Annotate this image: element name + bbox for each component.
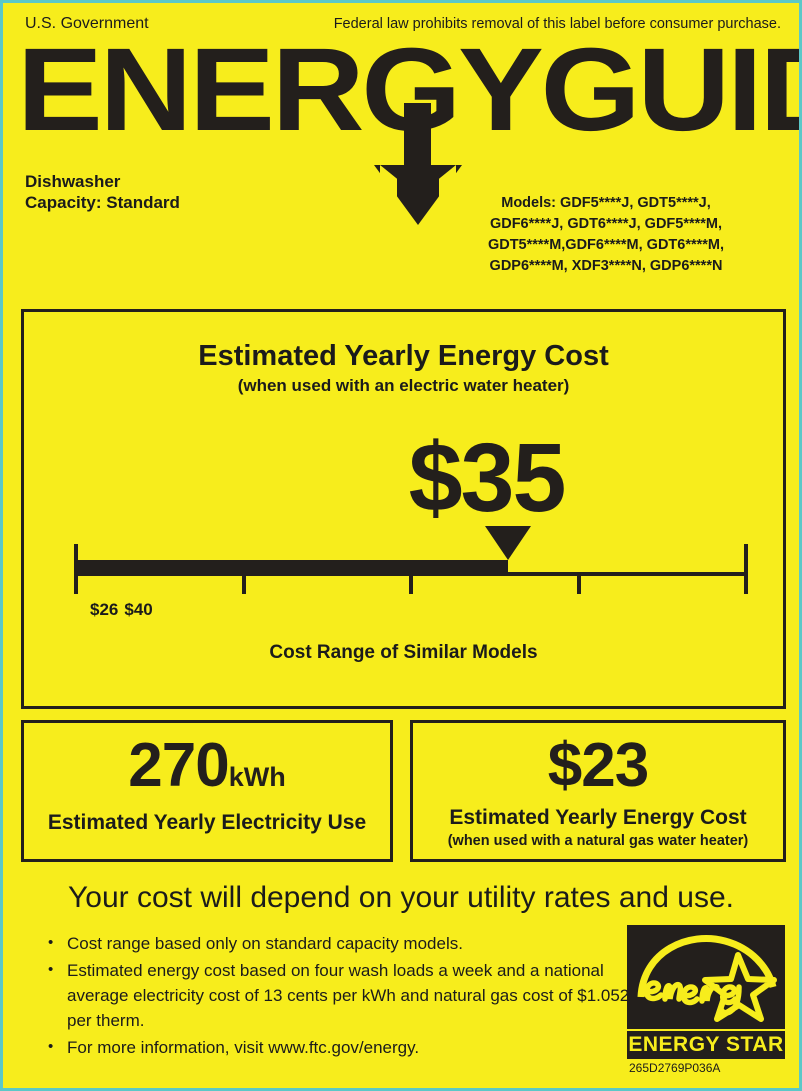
gas-cost-label: Estimated Yearly Energy Cost — [413, 806, 783, 830]
cost-range-scale: $26$40 — [76, 534, 746, 596]
footnote-item: Estimated energy cost based on four wash… — [67, 958, 652, 1033]
electricity-value: 270 — [128, 731, 228, 800]
footnote-item: Cost range based only on standard capaci… — [67, 931, 652, 956]
estimated-yearly-electricity-use-box: 270kWh Estimated Yearly Electricity Use — [21, 720, 393, 862]
scale-range-labels: $26$40 — [90, 600, 159, 620]
gas-cost-value: $23 — [413, 731, 783, 801]
agency-name: U.S. Government — [25, 15, 149, 33]
label-header: U.S. Government Federal law prohibits re… — [25, 15, 781, 37]
energy-star-emblem — [627, 925, 785, 1029]
scale-tick — [577, 572, 581, 594]
cost-disclaimer: Your cost will depend on your utility ra… — [3, 881, 799, 915]
legal-notice: Federal law prohibits removal of this la… — [334, 16, 781, 32]
gas-cost-sublabel: (when used with a natural gas water heat… — [413, 833, 783, 849]
range-high-label: $40 — [124, 600, 152, 619]
scale-tick-end — [744, 544, 748, 594]
footnotes-list: Cost range based only on standard capaci… — [43, 931, 652, 1062]
estimated-yearly-energy-cost-box: Estimated Yearly Energy Cost (when used … — [21, 309, 786, 709]
model-line: GDF6****J, GDT6****J, GDF5****M, — [441, 214, 771, 235]
primary-cost-value: $35 — [24, 428, 802, 528]
electricity-unit: kWh — [229, 762, 286, 792]
scale-tick — [409, 572, 413, 594]
electricity-label: Estimated Yearly Electricity Use — [24, 811, 390, 835]
range-low-label: $26 — [90, 600, 118, 619]
footnote-item: For more information, visit www.ftc.gov/… — [67, 1035, 652, 1060]
model-line: GDP6****M, XDF3****N, GDP6****N — [441, 256, 771, 277]
appliance-type: Dishwasher — [25, 171, 180, 192]
model-line: Models: GDF5****J, GDT5****J, — [441, 193, 771, 214]
scale-caption: Cost Range of Similar Models — [24, 642, 783, 664]
scale-tick — [242, 572, 246, 594]
scale-tick-start — [74, 544, 78, 594]
cost-marker-icon — [485, 526, 531, 560]
model-line: GDT5****M,GDF6****M, GDT6****M, — [441, 235, 771, 256]
energyguide-label: U.S. Government Federal law prohibits re… — [0, 0, 802, 1091]
cost-box-title: Estimated Yearly Energy Cost — [24, 340, 783, 373]
model-numbers: Models: GDF5****J, GDT5****J, GDF6****J,… — [441, 193, 771, 277]
cost-box-subtitle: (when used with an electric water heater… — [24, 376, 783, 396]
part-code: 265D2769P036A — [629, 1061, 720, 1075]
energy-star-bar-text: ENERGY STAR — [627, 1031, 785, 1059]
appliance-info: Dishwasher Capacity: Standard — [25, 171, 180, 213]
scale-filled-bar — [76, 560, 508, 576]
energy-star-logo: ENERGY STAR 265D2769P036A — [627, 925, 785, 1065]
energy-star-artwork — [627, 925, 785, 1029]
estimated-yearly-gas-cost-box: $23 Estimated Yearly Energy Cost (when u… — [410, 720, 786, 862]
electricity-value-group: 270kWh — [24, 731, 390, 812]
appliance-capacity: Capacity: Standard — [25, 192, 180, 213]
